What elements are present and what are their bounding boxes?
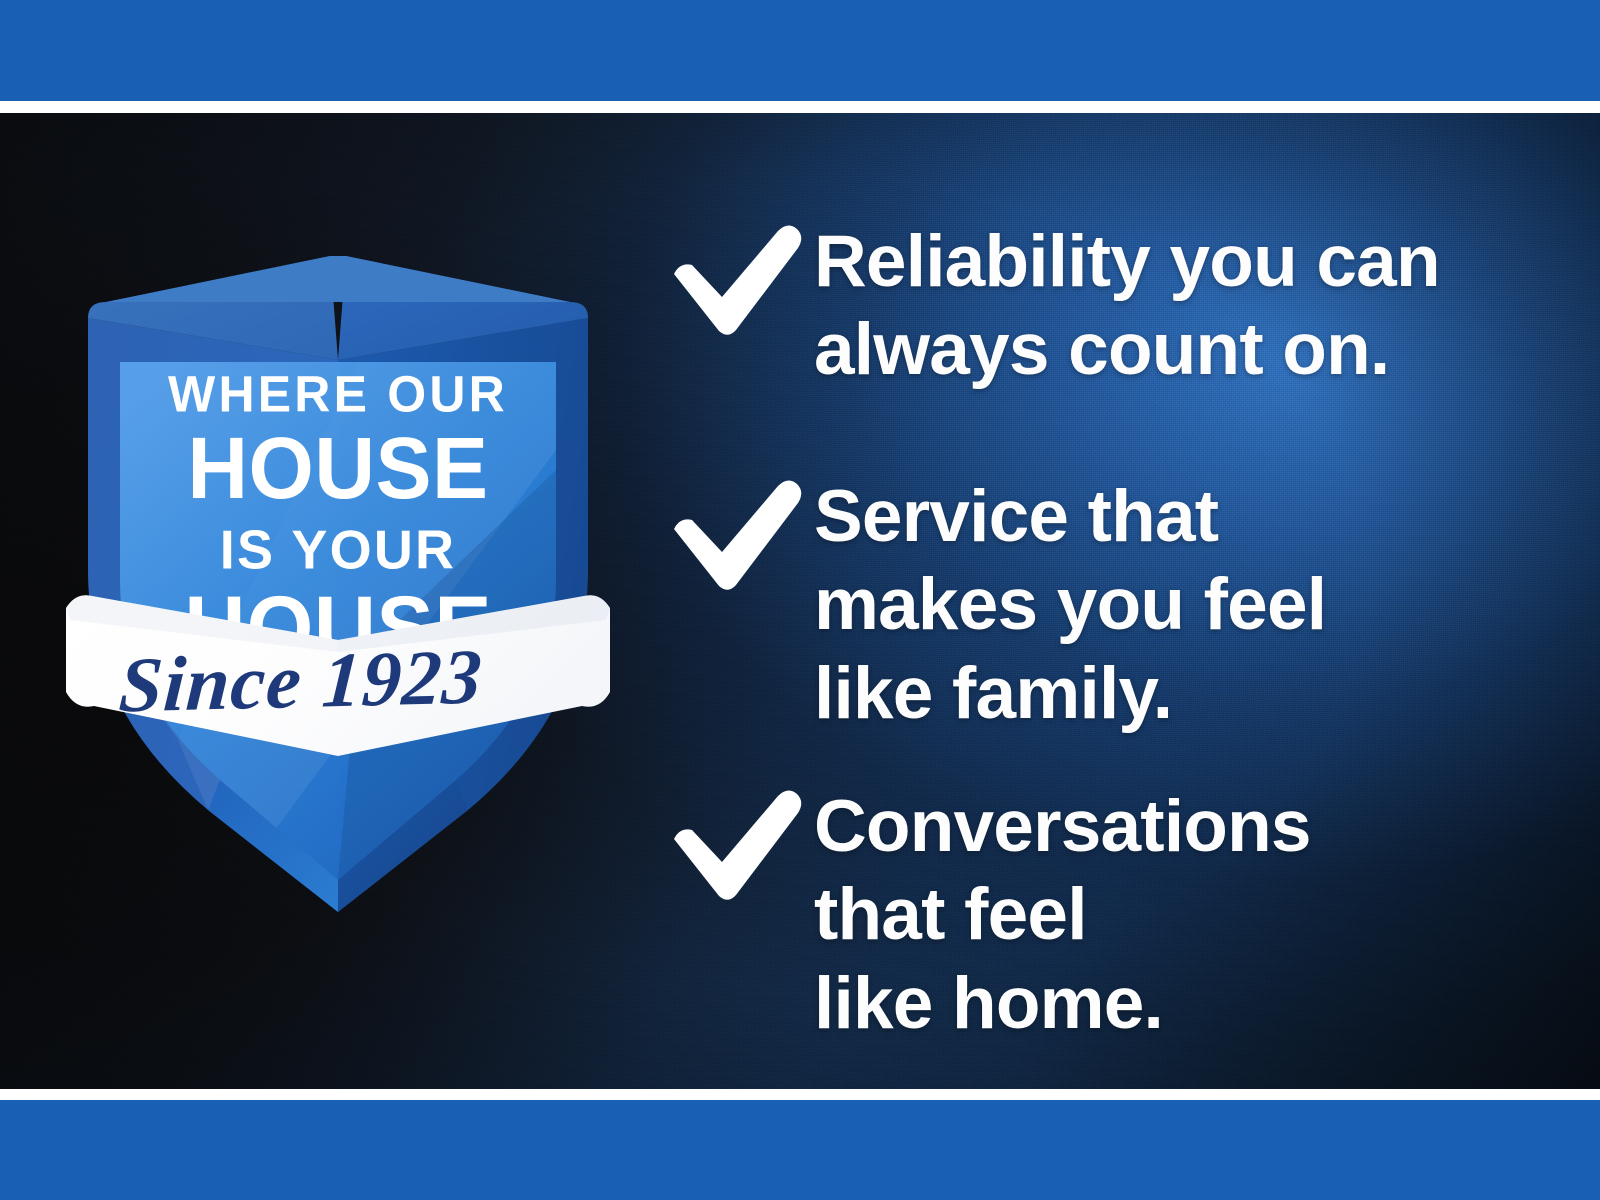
list-item: Service that makes you feel like family. — [660, 473, 1326, 738]
benefits-list: Reliability you can always count on. Ser… — [660, 113, 1560, 1089]
checkmark-icon — [660, 218, 810, 336]
top-white-divider — [0, 101, 1600, 113]
logo-line-3: IS YOUR — [220, 519, 456, 581]
logo-line-2: HOUSE — [187, 419, 488, 517]
list-item-text: Reliability you can always count on. — [814, 218, 1440, 395]
list-item: Reliability you can always count on. — [660, 218, 1440, 395]
logo-line-1: WHERE OUR — [168, 365, 508, 423]
checkmark-icon — [660, 783, 810, 901]
top-accent-bar — [0, 0, 1600, 101]
list-item-text: Conversations that feel like home. — [814, 783, 1311, 1048]
shield-logo: WHERE OUR HOUSE IS YOUR HOUSE Since 1923 — [58, 240, 638, 950]
list-item-text: Service that makes you feel like family. — [814, 473, 1326, 738]
checkmark-icon — [660, 473, 810, 591]
promo-graphic: WHERE OUR HOUSE IS YOUR HOUSE Since 1923… — [0, 0, 1600, 1200]
bottom-accent-bar — [0, 1100, 1600, 1200]
bottom-white-divider — [0, 1089, 1600, 1100]
ribbon-text: Since 1923 — [117, 633, 485, 729]
list-item: Conversations that feel like home. — [660, 783, 1311, 1048]
